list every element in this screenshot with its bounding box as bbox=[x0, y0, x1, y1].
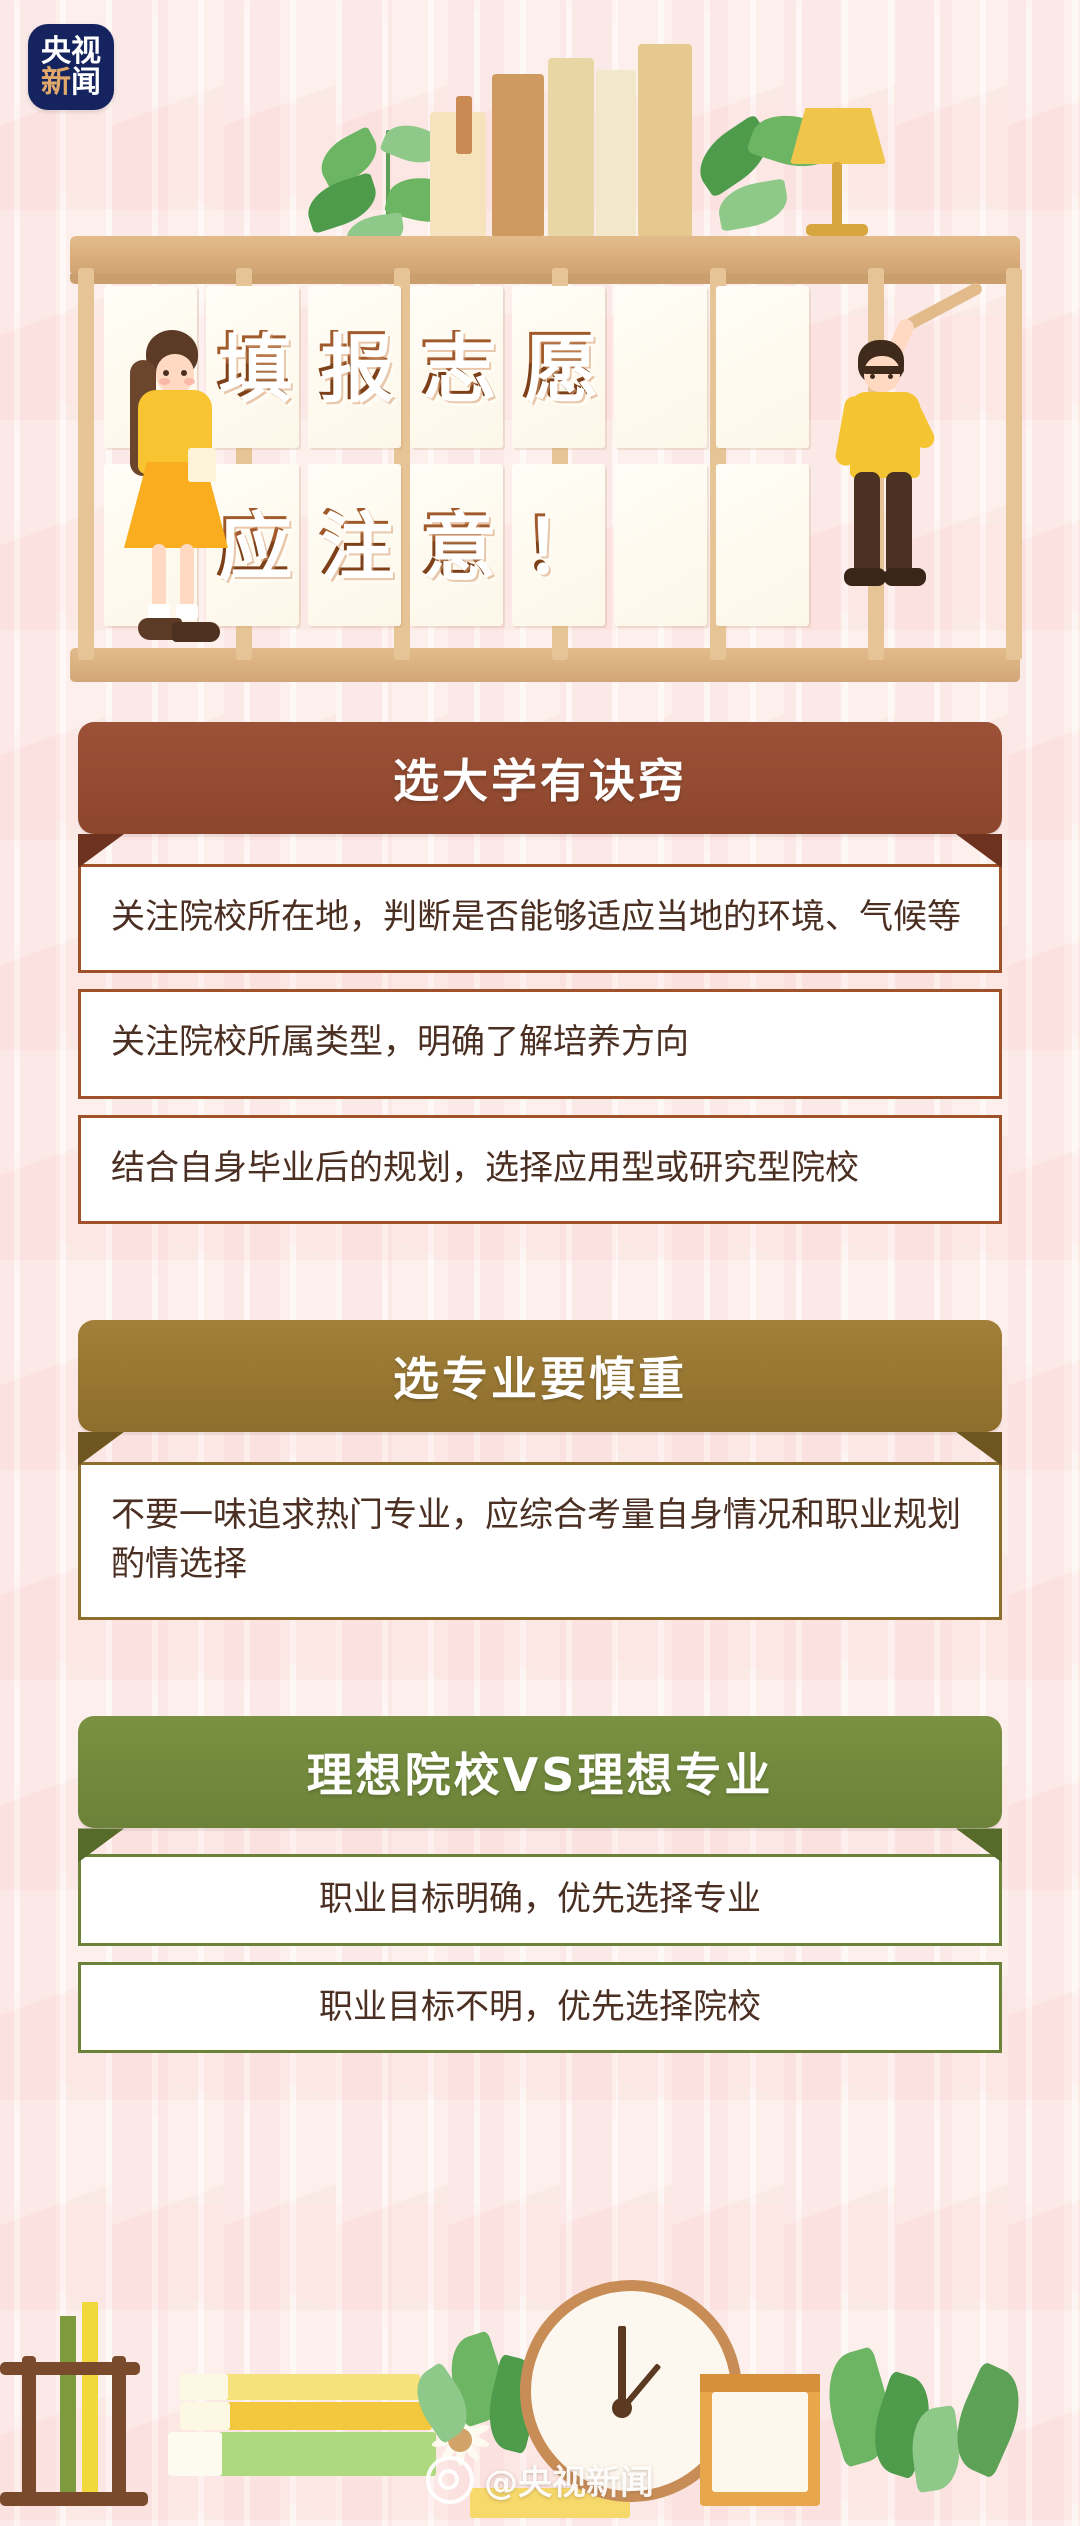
section-3-title: 理想院校VS理想专业 bbox=[307, 1739, 774, 1805]
shelf-upright-1 bbox=[78, 268, 94, 660]
pencil-green bbox=[60, 2316, 76, 2496]
section-1-item-0: 关注院校所在地，判断是否能够适应当地的环境、气候等 bbox=[78, 864, 1002, 973]
logo-text-news-white: 闻 bbox=[71, 68, 101, 98]
title-tile-1-2: 志 bbox=[410, 286, 503, 448]
notebook-right-pages bbox=[712, 2392, 808, 2492]
title-tile-2-3: ！ bbox=[512, 464, 605, 626]
title-tile-blank-6: 应 bbox=[716, 464, 809, 626]
pencil-rack-base bbox=[0, 2492, 148, 2506]
logo-text-news-gold: 新 bbox=[41, 68, 71, 98]
title-tile-blank-2: 填 bbox=[614, 286, 707, 448]
boy-illustration bbox=[840, 300, 970, 620]
section-1-item-1: 关注院校所属类型，明确了解培养方向 bbox=[78, 989, 1002, 1098]
book-stack-mid-pages bbox=[180, 2402, 230, 2430]
pencil-rack-left-post bbox=[22, 2356, 36, 2502]
book-decoration-5 bbox=[596, 70, 636, 238]
book-decoration-6 bbox=[638, 44, 692, 238]
section-select-university: 选大学有诀窍 关注院校所在地，判断是否能够适应当地的环境、气候等 关注院校所属类… bbox=[0, 722, 1080, 1224]
section-2-item-0-text: 不要一味追求热门专业，应综合考量自身情况和职业规划酌情选择 bbox=[111, 1491, 969, 1590]
book-decoration-4 bbox=[548, 58, 594, 238]
pencil-yellow bbox=[82, 2302, 98, 2496]
logo-line-2: 新 闻 bbox=[41, 68, 101, 98]
book-decoration-2 bbox=[456, 96, 472, 154]
section-2-fold-left bbox=[78, 1432, 124, 1466]
title-tile-1-1: 报 bbox=[308, 286, 401, 448]
section-university-vs-major: 理想院校VS理想专业 职业目标明确，优先选择专业 职业目标不明，优先选择院校 bbox=[0, 1716, 1080, 2053]
section-3-item-1-text: 职业目标不明，优先选择院校 bbox=[111, 1983, 969, 2032]
section-2-fold-right bbox=[956, 1432, 1002, 1466]
clock-center-dot bbox=[612, 2398, 632, 2418]
section-3-item-0: 职业目标明确，优先选择专业 bbox=[78, 1854, 1002, 1945]
watermark-text: @央视新闻 bbox=[484, 2455, 654, 2504]
section-2-ribbon: 选专业要慎重 bbox=[78, 1320, 1002, 1432]
pencil-rack-right-post bbox=[112, 2356, 126, 2502]
weibo-icon bbox=[426, 2456, 474, 2504]
logo-text-cctv: 央视 bbox=[41, 37, 101, 67]
title-tile-blank-3: 填 bbox=[716, 286, 809, 448]
cctv-news-logo: 央视 新 闻 bbox=[28, 24, 114, 110]
section-select-major: 选专业要慎重 不要一味追求热门专业，应综合考量自身情况和职业规划酌情选择 bbox=[0, 1320, 1080, 1621]
section-3-item-0-text: 职业目标明确，优先选择专业 bbox=[111, 1875, 969, 1924]
section-1-item-1-text: 关注院校所属类型，明确了解培养方向 bbox=[111, 1018, 969, 1067]
shelf-upright-7 bbox=[1006, 268, 1022, 660]
lamp-base bbox=[806, 224, 868, 236]
content-sections: 选大学有诀窍 关注院校所在地，判断是否能够适应当地的环境、气候等 关注院校所属类… bbox=[0, 722, 1080, 2125]
section-3-ribbon: 理想院校VS理想专业 bbox=[78, 1716, 1002, 1828]
lamp-decoration bbox=[790, 108, 886, 164]
title-tile-blank-5: 应 bbox=[614, 464, 707, 626]
section-1-ribbon: 选大学有诀窍 bbox=[78, 722, 1002, 834]
notebook-right-band bbox=[700, 2374, 820, 2392]
section-2-title: 选专业要慎重 bbox=[393, 1343, 687, 1409]
section-1-fold-right bbox=[956, 834, 1002, 868]
title-tile-1-3: 愿 bbox=[512, 286, 605, 448]
weibo-watermark: @央视新闻 bbox=[426, 2455, 654, 2504]
logo-line-1: 央视 bbox=[41, 37, 101, 67]
section-3-item-1: 职业目标不明，优先选择院校 bbox=[78, 1962, 1002, 2053]
section-1-item-2: 结合自身毕业后的规划，选择应用型或研究型院校 bbox=[78, 1115, 1002, 1224]
clock-hand-minute bbox=[618, 2326, 626, 2404]
section-2-item-0: 不要一味追求热门专业，应综合考量自身情况和职业规划酌情选择 bbox=[78, 1462, 1002, 1621]
book-stack-bottom-pages bbox=[168, 2432, 222, 2476]
girl-illustration bbox=[118, 330, 238, 660]
section-1-title: 选大学有诀窍 bbox=[393, 745, 687, 811]
section-1-fold-left bbox=[78, 834, 124, 868]
pencil-rack-rail bbox=[0, 2362, 140, 2375]
book-decoration-3 bbox=[492, 74, 544, 238]
title-tile-2-1: 注 bbox=[308, 464, 401, 626]
lamp-stand bbox=[832, 162, 842, 228]
section-1-item-0-text: 关注院校所在地，判断是否能够适应当地的环境、气候等 bbox=[111, 893, 969, 942]
header-illustration: 填 填 报 志 愿 填 填 应 应 注 意 ！ 应 应 bbox=[0, 0, 1080, 700]
book-stack-top-pages bbox=[180, 2374, 228, 2400]
title-tile-2-2: 意 bbox=[410, 464, 503, 626]
section-1-item-2-text: 结合自身毕业后的规划，选择应用型或研究型院校 bbox=[111, 1144, 969, 1193]
